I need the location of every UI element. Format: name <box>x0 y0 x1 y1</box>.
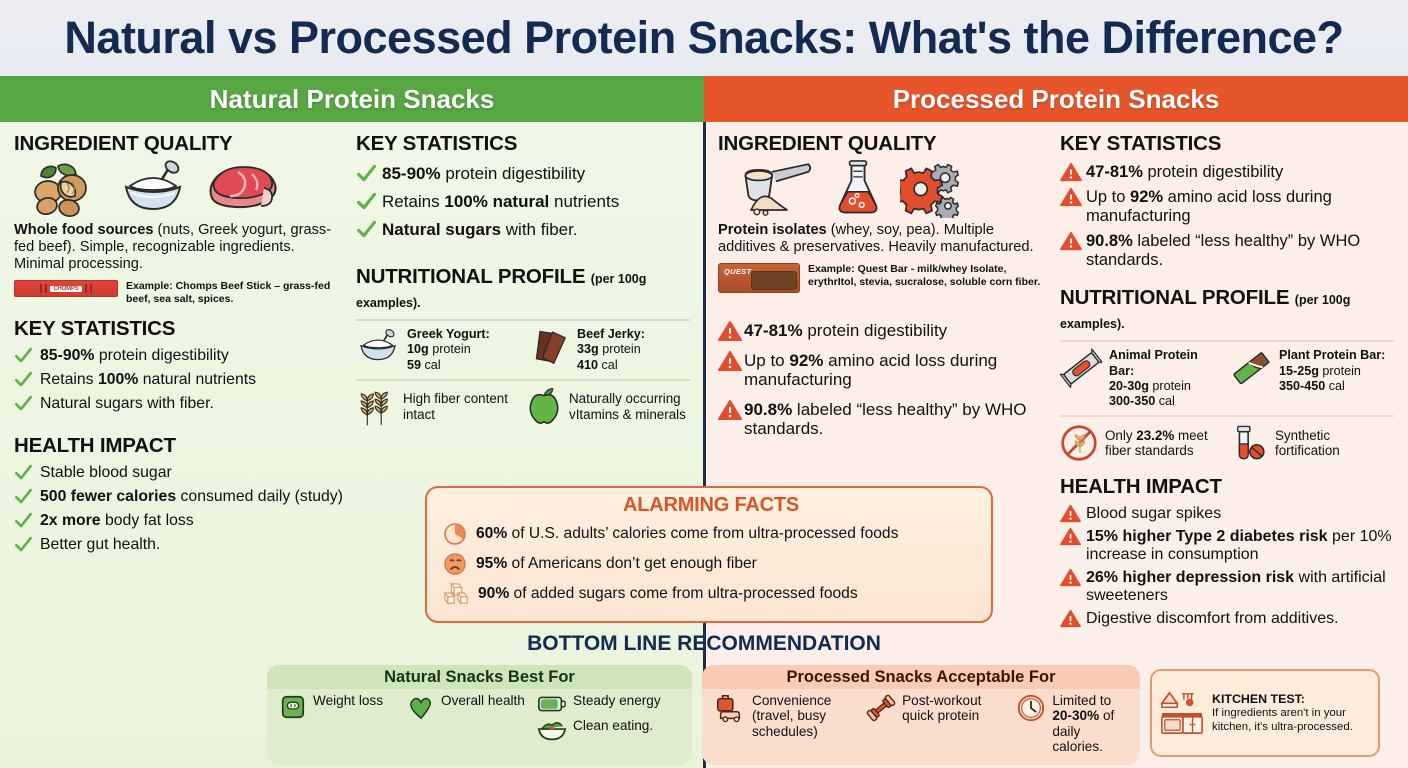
processed-ingredient-paragraph-bold: Protein isolates <box>718 222 827 238</box>
green-apple-icon <box>526 387 562 427</box>
animal-protein-bar-icon <box>1060 348 1102 388</box>
list-item-label: 85-90% protein digestibility <box>382 163 585 183</box>
kitchen-test-card: KITCHEN TEST: If ingredients aren't in y… <box>1150 669 1380 757</box>
natural-example-caption: Example: Chomps Beef Stick – grass-fed b… <box>126 280 348 305</box>
list-item: 47-81% protein digestibility <box>1060 159 1394 184</box>
nuts-icon <box>28 160 104 218</box>
natural-key-statistics-heading-2: KEY STATISTICS <box>356 132 690 156</box>
list-item: Greek Yogurt: 10g protein 59 cal <box>356 327 520 373</box>
quest-brand-label: QUEST <box>724 267 751 276</box>
list-item-label: 47-81% protein digestibility <box>1086 162 1283 181</box>
divider-line <box>356 379 690 381</box>
list-item: Clean eating. <box>537 718 661 742</box>
processed-health-impact-list: Blood sugar spikes 15% higher Type 2 dia… <box>1060 502 1394 630</box>
list-item-label: 60% of U.S. adults’ calories come from u… <box>476 525 898 542</box>
warning-icon <box>1060 162 1079 181</box>
list-item: Retains 100% natural nutrients <box>14 368 348 392</box>
list-item-label: Up to 92% amino acid loss during manufac… <box>744 350 1052 389</box>
scale-icon <box>279 693 307 721</box>
warning-icon <box>1060 231 1079 250</box>
protein-scoop-icon <box>734 160 816 218</box>
list-item: 15% higher Type 2 diabetes risk per 10% … <box>1060 525 1394 566</box>
list-item: Up to 92% amino acid loss during manufac… <box>718 345 1052 394</box>
natural-ingredient-paragraph: Whole food sources (nuts, Greek yogurt, … <box>14 222 348 273</box>
processed-health-impact-heading: HEALTH IMPACT <box>1060 475 1394 499</box>
list-item: Digestive discomfort from additives. <box>1060 607 1394 630</box>
list-item-label: Retains 100% natural nutrients <box>382 191 619 211</box>
list-item: Weight loss <box>279 693 397 742</box>
natural-health-impact-list: Stable blood sugar 500 fewer calories co… <box>14 461 348 557</box>
title-bar: Natural vs Processed Protein Snacks: Wha… <box>0 0 1408 76</box>
wheat-icon <box>356 387 396 427</box>
pie-chart-icon <box>443 522 467 546</box>
natural-nutritional-profile-heading: NUTRITIONAL PROFILE (per 100g examples). <box>356 265 690 313</box>
divider-line <box>356 319 690 321</box>
processed-ingredient-paragraph: Protein isolates (whey, soy, pea). Multi… <box>718 222 1052 256</box>
processed-right-half: KEY STATISTICS 47-81% protein digestibil… <box>1060 132 1394 630</box>
kitchen-test-text: KITCHEN TEST: If ingredients aren't in y… <box>1212 692 1371 734</box>
plant-protein-bar-icon <box>1230 348 1272 388</box>
check-icon <box>14 535 33 554</box>
warning-icon <box>1060 609 1079 628</box>
list-item: 95% of Americans don’t get enough fiber <box>443 549 979 579</box>
list-item: Steady energy <box>537 693 661 715</box>
check-icon <box>14 487 33 506</box>
list-item: Animal Protein Bar: 20-30g protein 300-3… <box>1060 348 1224 409</box>
chomps-brand-label: CHOMPS <box>50 286 81 292</box>
list-item: Beef Jerky: 33g protein 410 cal <box>526 327 690 373</box>
list-item-label: Weight loss <box>313 693 383 708</box>
check-icon <box>356 163 375 182</box>
beef-jerky-icon <box>526 327 570 367</box>
list-item: Convenience (travel, busy schedules) <box>714 693 856 754</box>
warning-icon <box>1060 187 1079 206</box>
natural-best-for-card: Natural Snacks Best For Weight loss Over… <box>267 665 692 765</box>
warning-icon <box>718 350 737 369</box>
luggage-icon <box>714 693 746 723</box>
check-icon <box>14 463 33 482</box>
list-item-label: Stable blood sugar <box>40 463 172 482</box>
list-item-label: 26% higher depression risk with artifici… <box>1086 568 1394 605</box>
list-item-label: Beef Jerky: 33g protein 410 cal <box>577 327 645 373</box>
bottom-line-heading: BOTTOM LINE RECOMMENDATION <box>0 632 1408 656</box>
steak-icon <box>202 160 280 218</box>
list-item-label: 85-90% protein digestibility <box>40 346 229 365</box>
page-title: Natural vs Processed Protein Snacks: Wha… <box>64 12 1343 64</box>
list-item: Blood sugar spikes <box>1060 502 1394 525</box>
sugar-cubes-icon <box>443 582 469 606</box>
list-item-label: Natural sugars with fiber. <box>40 394 214 413</box>
processed-key-statistics-list: 47-81% protein digestibility Up to 92% a… <box>1060 159 1394 272</box>
list-item: 85-90% protein digestibility <box>14 344 348 368</box>
list-item-label: Greek Yogurt: 10g protein 59 cal <box>407 327 490 373</box>
natural-nutrition-facts: High fiber content intact Naturally occu… <box>356 387 690 427</box>
list-item-label: Plant Protein Bar: 15-25g protein 350-45… <box>1279 348 1385 394</box>
processed-column-header: Processed Protein Snacks <box>704 76 1408 122</box>
list-item-label: 90% of added sugars come from ultra-proc… <box>478 585 858 602</box>
natural-example: CHOMPS Example: Chomps Beef Stick – gras… <box>14 280 348 305</box>
list-item-label: High fiber content intact <box>403 391 520 422</box>
kitchen-icon <box>1159 690 1205 736</box>
natural-health-impact-heading: HEALTH IMPACT <box>14 434 348 458</box>
processed-icons <box>734 160 1052 218</box>
list-item-label: 2x more body fat loss <box>40 511 194 530</box>
natural-best-for-heading: Natural Snacks Best For <box>267 665 692 689</box>
processed-key-statistics-heading: KEY STATISTICS <box>1060 132 1394 156</box>
list-item-label: 95% of Americans don’t get enough fiber <box>476 555 757 572</box>
natural-left-half: INGREDIENT QUALITY <box>14 132 348 557</box>
natural-ingredient-quality-heading: INGREDIENT QUALITY <box>14 132 348 156</box>
processed-ingredient-quality-heading: INGREDIENT QUALITY <box>718 132 1052 156</box>
list-item-label: Post-workout quick protein <box>902 693 1006 724</box>
check-icon <box>14 394 33 413</box>
list-item: Plant Protein Bar: 15-25g protein 350-45… <box>1230 348 1394 409</box>
list-item-label: 90.8% labeled “less healthy” by WHO stan… <box>1086 231 1394 269</box>
warning-icon <box>1060 568 1079 587</box>
warning-icon <box>718 320 737 339</box>
list-item-label: Digestive discomfort from additives. <box>1086 609 1339 628</box>
processed-key-statistics-list-left: 47-81% protein digestibility Up to 92% a… <box>718 315 1052 443</box>
natural-column-header: Natural Protein Snacks <box>0 76 704 122</box>
check-icon <box>14 370 33 389</box>
processed-nutritional-profile-heading: NUTRITIONAL PROFILE (per 100g examples). <box>1060 286 1394 334</box>
warning-icon <box>1060 504 1079 523</box>
natural-key-statistics-list-2: 85-90% protein digestibility Retains 100… <box>356 159 690 243</box>
check-icon <box>14 346 33 365</box>
list-item-label: Retains 100% natural nutrients <box>40 370 256 389</box>
flask-icon <box>832 160 884 218</box>
list-item: 47-81% protein digestibility <box>718 315 1052 345</box>
list-item: 90.8% labeled “less healthy” by WHO stan… <box>1060 228 1394 272</box>
list-item: Natural sugars with fiber. <box>14 392 348 416</box>
processed-example: QUEST Example: Quest Bar - milk/whey Iso… <box>718 263 1052 293</box>
list-item: 90% of added sugars come from ultra-proc… <box>443 579 979 609</box>
warning-icon <box>1060 527 1079 546</box>
list-item-label: Steady energy <box>573 693 661 708</box>
yogurt-bowl-icon <box>118 160 188 218</box>
list-item: 2x more body fat loss <box>14 509 348 533</box>
list-item-label: Only 23.2% meet fiber standards <box>1105 428 1224 459</box>
yogurt-bowl-icon <box>356 327 400 367</box>
natural-nutrition-foods: Greek Yogurt: 10g protein 59 cal <box>356 327 690 373</box>
list-item: Post-workout quick protein <box>866 693 1006 754</box>
list-item-label: Up to 92% amino acid loss during manufac… <box>1086 187 1394 225</box>
list-item: Naturally occurring vItamins & minerals <box>526 387 690 427</box>
sad-face-icon <box>443 552 467 576</box>
battery-icon <box>537 693 567 715</box>
natural-food-icons <box>28 160 348 218</box>
dumbbell-icon <box>866 693 896 723</box>
alarming-facts-heading: ALARMING FACTS <box>443 494 979 517</box>
bottom-row: Natural Snacks Best For Weight loss Over… <box>0 665 1408 765</box>
processed-example-caption: Example: Quest Bar - milk/whey Isolate, … <box>808 263 1052 288</box>
list-item-label: 47-81% protein digestibility <box>744 320 947 340</box>
list-item-label: Animal Protein Bar: 20-30g protein 300-3… <box>1109 348 1224 409</box>
list-item: Up to 92% amino acid loss during manufac… <box>1060 184 1394 228</box>
warning-icon <box>718 399 737 418</box>
test-tube-pill-icon <box>1230 423 1268 463</box>
processed-nutrition-facts: Only 23.2% meet fiber standards <box>1060 423 1394 463</box>
list-item-label: Natural sugars with fiber. <box>382 219 578 239</box>
list-item: Stable blood sugar <box>14 461 348 485</box>
natural-key-statistics-heading: KEY STATISTICS <box>14 317 348 341</box>
list-item-label: 15% higher Type 2 diabetes risk per 10% … <box>1086 527 1394 564</box>
alarming-facts-card: ALARMING FACTS 60% of U.S. adults’ calor… <box>425 486 993 623</box>
processed-acceptable-for-card: Processed Snacks Acceptable For Convenie… <box>702 665 1140 765</box>
list-item: 60% of U.S. adults’ calories come from u… <box>443 519 979 549</box>
infographic-page: Natural vs Processed Protein Snacks: Wha… <box>0 0 1408 768</box>
column-header-band: Natural Protein Snacks Processed Protein… <box>0 76 1408 122</box>
processed-nutrition-foods: Animal Protein Bar: 20-30g protein 300-3… <box>1060 348 1394 409</box>
list-item: Limited to 20-30% of daily calories. <box>1016 693 1130 754</box>
gears-icon <box>900 160 962 218</box>
list-item-label: 90.8% labeled “less healthy” by WHO stan… <box>744 399 1052 438</box>
list-item: Only 23.2% meet fiber standards <box>1060 423 1224 463</box>
list-item: High fiber content intact <box>356 387 520 427</box>
list-item: Retains 100% natural nutrients <box>356 187 690 215</box>
list-item-label: Limited to 20-30% of daily calories. <box>1052 693 1130 754</box>
list-item-label: 500 fewer calories consumed daily (study… <box>40 487 343 506</box>
divider-line <box>1060 415 1394 417</box>
check-icon <box>356 219 375 238</box>
list-item-label: Clean eating. <box>573 718 653 733</box>
list-item-label: Better gut health. <box>40 535 160 554</box>
list-item-label: Synthetic fortification <box>1275 428 1394 459</box>
list-item: 90.8% labeled “less healthy” by WHO stan… <box>718 394 1052 443</box>
list-item-label: Overall health <box>441 693 525 708</box>
heart-icon <box>407 693 435 721</box>
quest-bar-icon: QUEST <box>718 263 800 293</box>
natural-key-statistics-list: 85-90% protein digestibility Retains 100… <box>14 344 348 416</box>
chomps-beef-stick-icon: CHOMPS <box>14 280 118 297</box>
no-fiber-icon <box>1060 424 1098 462</box>
list-item-label: Convenience (travel, busy schedules) <box>752 693 856 739</box>
check-icon <box>14 511 33 530</box>
list-item: Better gut health. <box>14 533 348 557</box>
check-icon <box>356 191 375 210</box>
divider-line <box>1060 340 1394 342</box>
clock-icon <box>1016 693 1046 723</box>
list-item-label: Blood sugar spikes <box>1086 504 1221 523</box>
list-item: 85-90% protein digestibility <box>356 159 690 187</box>
list-item: 26% higher depression risk with artifici… <box>1060 566 1394 607</box>
salad-bowl-icon <box>537 718 567 742</box>
list-item: Synthetic fortification <box>1230 423 1394 463</box>
processed-acceptable-for-heading: Processed Snacks Acceptable For <box>702 665 1140 689</box>
list-item: 500 fewer calories consumed daily (study… <box>14 485 348 509</box>
list-item: Overall health <box>407 693 527 742</box>
list-item-label: Naturally occurring vItamins & minerals <box>569 391 690 422</box>
list-item: Natural sugars with fiber. <box>356 215 690 243</box>
natural-ingredient-paragraph-bold: Whole food sources <box>14 222 153 238</box>
